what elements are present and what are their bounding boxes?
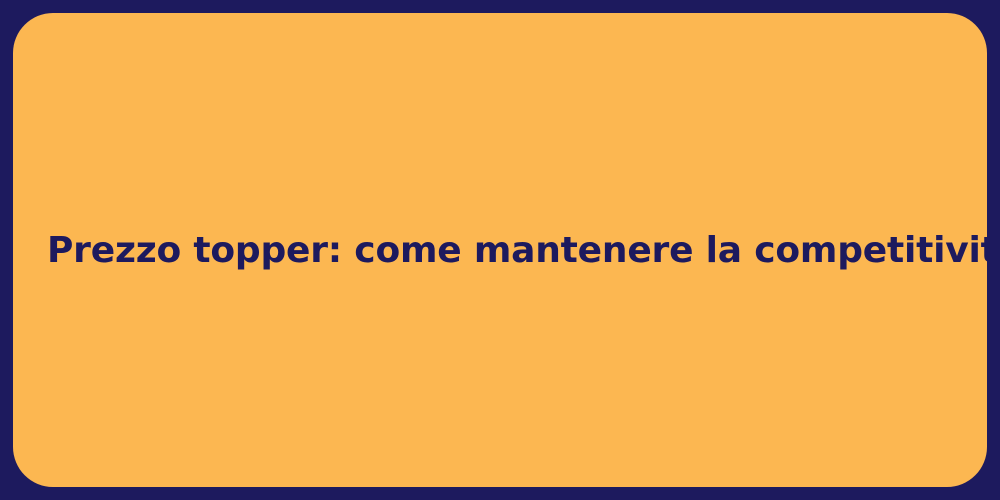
banner-card: Prezzo topper: come mantenere la competi… bbox=[13, 13, 987, 487]
page-title: Prezzo topper: come mantenere la competi… bbox=[13, 228, 987, 273]
banner-frame: Prezzo topper: come mantenere la competi… bbox=[0, 0, 1000, 500]
